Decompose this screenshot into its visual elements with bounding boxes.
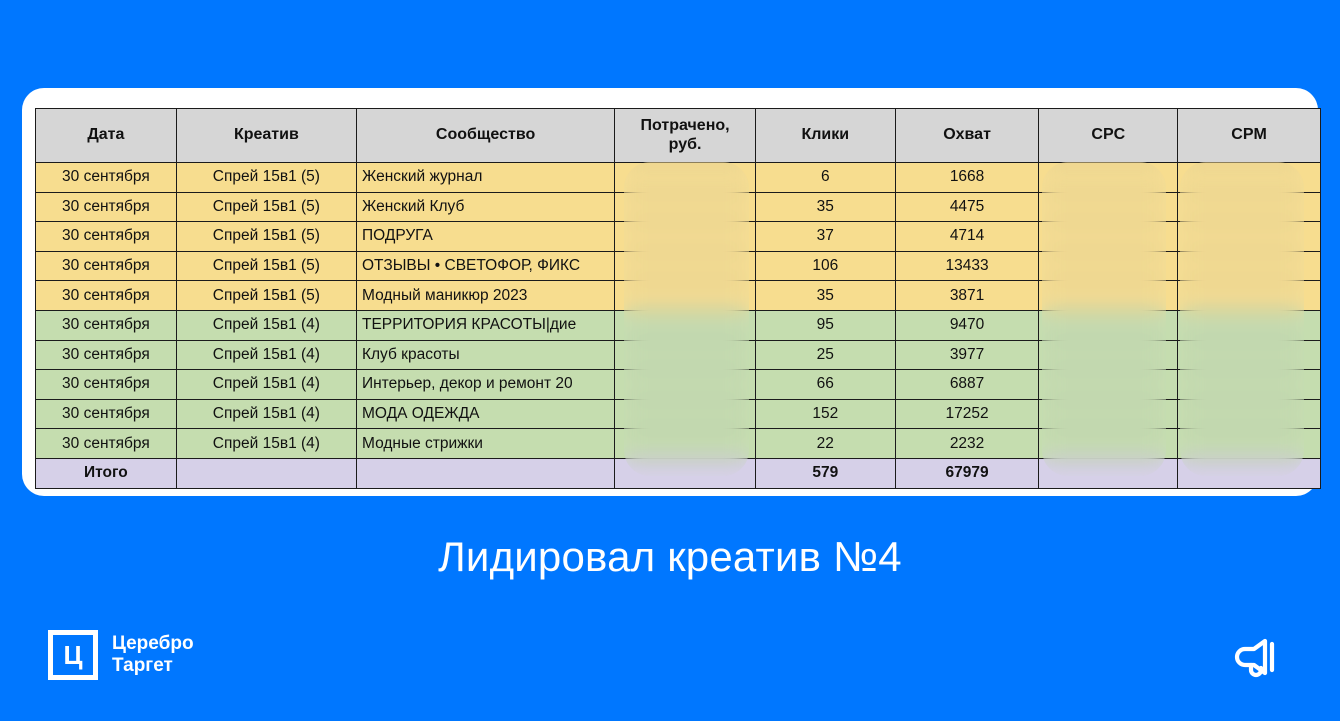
total-spent[interactable] <box>615 458 756 488</box>
cell-cpc[interactable] <box>1039 399 1178 429</box>
cell-date[interactable]: 30 сентября <box>36 281 177 311</box>
cell-cpc[interactable] <box>1039 310 1178 340</box>
header-row: Дата Креатив Сообщество Потрачено, руб. … <box>36 109 1321 163</box>
column-header-cpc[interactable]: CPC <box>1039 109 1178 163</box>
cell-clicks[interactable]: 35 <box>755 192 895 222</box>
cell-date[interactable]: 30 сентября <box>36 340 177 370</box>
cell-clicks[interactable]: 95 <box>755 310 895 340</box>
cell-community[interactable]: ПОДРУГА <box>356 222 614 252</box>
total-row[interactable]: Итого57967979 <box>36 458 1321 488</box>
cell-spent[interactable] <box>615 192 756 222</box>
cell-community[interactable]: Женский журнал <box>356 163 614 193</box>
table-header: Дата Креатив Сообщество Потрачено, руб. … <box>36 109 1321 163</box>
cell-text: ПОДРУГА <box>362 227 433 245</box>
logo-mark-icon: Ц <box>48 630 98 680</box>
cell-creative[interactable]: Спрей 15в1 (5) <box>176 222 356 252</box>
cell-cpc[interactable] <box>1039 251 1178 281</box>
cell-reach[interactable]: 4714 <box>895 222 1039 252</box>
cell-creative[interactable]: Спрей 15в1 (4) <box>176 340 356 370</box>
cell-reach[interactable]: 17252 <box>895 399 1039 429</box>
cell-text: Модный маникюр 2023 <box>362 287 527 305</box>
cell-spent[interactable] <box>615 251 756 281</box>
campaign-stats-table: Дата Креатив Сообщество Потрачено, руб. … <box>35 108 1321 489</box>
cell-cpm[interactable] <box>1178 399 1321 429</box>
cell-cpc[interactable] <box>1039 281 1178 311</box>
cell-creative[interactable]: Спрей 15в1 (5) <box>176 281 356 311</box>
cell-cpc[interactable] <box>1039 192 1178 222</box>
cell-spent[interactable] <box>615 370 756 400</box>
cell-clicks[interactable]: 25 <box>755 340 895 370</box>
table-row[interactable]: 30 сентябряСпрей 15в1 (4)Интерьер, декор… <box>36 370 1321 400</box>
column-header-reach[interactable]: Охват <box>895 109 1039 163</box>
column-header-spent-line1: Потрачено, <box>641 117 730 134</box>
cell-cpm[interactable] <box>1178 370 1321 400</box>
cell-cpm[interactable] <box>1178 163 1321 193</box>
cell-spent[interactable] <box>615 399 756 429</box>
cell-spent[interactable] <box>615 222 756 252</box>
cell-date[interactable]: 30 сентября <box>36 429 177 459</box>
page-caption: Лидировал креатив №4 <box>0 533 1340 581</box>
cell-community[interactable]: Интерьер, декор и ремонт 20 <box>356 370 614 400</box>
total-cpc[interactable] <box>1039 458 1178 488</box>
cell-reach[interactable]: 9470 <box>895 310 1039 340</box>
cell-community[interactable]: Модные стрижки <box>356 429 614 459</box>
cell-date[interactable]: 30 сентября <box>36 399 177 429</box>
table-row[interactable]: 30 сентябряСпрей 15в1 (4)МОДА ОДЕЖДА1521… <box>36 399 1321 429</box>
column-header-cpm[interactable]: CPM <box>1178 109 1321 163</box>
cell-date[interactable]: 30 сентября <box>36 163 177 193</box>
column-header-creative[interactable]: Креатив <box>176 109 356 163</box>
cell-cpm[interactable] <box>1178 281 1321 311</box>
cell-community[interactable]: ОТЗЫВЫ • СВЕТОФОР, ФИКС <box>356 251 614 281</box>
cell-creative[interactable]: Спрей 15в1 (4) <box>176 370 356 400</box>
cell-text: ТЕРРИТОРИЯ КРАСОТЫ|дие <box>362 316 576 334</box>
cell-cpc[interactable] <box>1039 429 1178 459</box>
logo-wordmark-line2: Таргет <box>112 655 194 677</box>
cell-community[interactable]: ТЕРРИТОРИЯ КРАСОТЫ|дие <box>356 310 614 340</box>
table-row[interactable]: 30 сентябряСпрей 15в1 (5)Модный маникюр … <box>36 281 1321 311</box>
total-cpm[interactable] <box>1178 458 1321 488</box>
cell-text: Женский Клуб <box>362 198 464 216</box>
cell-cpm[interactable] <box>1178 310 1321 340</box>
cell-cpm[interactable] <box>1178 340 1321 370</box>
cell-text: Клуб красоты <box>362 346 460 364</box>
cell-cpm[interactable] <box>1178 251 1321 281</box>
cell-date[interactable]: 30 сентября <box>36 222 177 252</box>
cell-text: ОТЗЫВЫ • СВЕТОФОР, ФИКС <box>362 257 580 275</box>
logo-wordmark-line1: Церебро <box>112 633 194 655</box>
total-creative[interactable] <box>176 458 356 488</box>
cell-clicks[interactable]: 152 <box>755 399 895 429</box>
cell-spent[interactable] <box>615 281 756 311</box>
cell-reach[interactable]: 6887 <box>895 370 1039 400</box>
cell-community[interactable]: Модный маникюр 2023 <box>356 281 614 311</box>
brand-logo: Ц Церебро Таргет <box>48 630 194 680</box>
cell-spent[interactable] <box>615 340 756 370</box>
cell-cpc[interactable] <box>1039 370 1178 400</box>
cell-cpm[interactable] <box>1178 222 1321 252</box>
column-header-clicks[interactable]: Клики <box>755 109 895 163</box>
cell-cpc[interactable] <box>1039 222 1178 252</box>
table-row[interactable]: 30 сентябряСпрей 15в1 (4)ТЕРРИТОРИЯ КРАС… <box>36 310 1321 340</box>
column-header-community[interactable]: Сообщество <box>356 109 614 163</box>
total-label[interactable]: Итого <box>36 458 177 488</box>
total-community[interactable] <box>356 458 614 488</box>
cell-date[interactable]: 30 сентября <box>36 251 177 281</box>
cell-text: Модные стрижки <box>362 435 483 453</box>
cell-spent[interactable] <box>615 310 756 340</box>
cell-creative[interactable]: Спрей 15в1 (4) <box>176 429 356 459</box>
table-row[interactable]: 30 сентябряСпрей 15в1 (5)ПОДРУГА374714 <box>36 222 1321 252</box>
cell-creative[interactable]: Спрей 15в1 (4) <box>176 399 356 429</box>
cell-creative[interactable]: Спрей 15в1 (5) <box>176 251 356 281</box>
cell-reach[interactable]: 2232 <box>895 429 1039 459</box>
total-reach[interactable]: 67979 <box>895 458 1039 488</box>
table-row[interactable]: 30 сентябряСпрей 15в1 (4)Клуб красоты253… <box>36 340 1321 370</box>
table-row[interactable]: 30 сентябряСпрей 15в1 (4)Модные стрижки2… <box>36 429 1321 459</box>
cell-date[interactable]: 30 сентября <box>36 310 177 340</box>
megaphone-icon <box>1234 636 1288 678</box>
table-row[interactable]: 30 сентябряСпрей 15в1 (5)ОТЗЫВЫ • СВЕТОФ… <box>36 251 1321 281</box>
cell-text: МОДА ОДЕЖДА <box>362 405 479 423</box>
cell-date[interactable]: 30 сентября <box>36 370 177 400</box>
cell-clicks[interactable]: 6 <box>755 163 895 193</box>
spreadsheet-card: Дата Креатив Сообщество Потрачено, руб. … <box>22 88 1318 496</box>
cell-cpm[interactable] <box>1178 192 1321 222</box>
cell-clicks[interactable]: 37 <box>755 222 895 252</box>
cell-clicks[interactable]: 106 <box>755 251 895 281</box>
cell-text: Женский журнал <box>362 168 482 186</box>
cell-creative[interactable]: Спрей 15в1 (5) <box>176 163 356 193</box>
cell-spent[interactable] <box>615 429 756 459</box>
cell-creative[interactable]: Спрей 15в1 (5) <box>176 192 356 222</box>
cell-community[interactable]: Женский Клуб <box>356 192 614 222</box>
cell-reach[interactable]: 4475 <box>895 192 1039 222</box>
cell-creative[interactable]: Спрей 15в1 (4) <box>176 310 356 340</box>
cell-community[interactable]: Клуб красоты <box>356 340 614 370</box>
cell-text: Интерьер, декор и ремонт 20 <box>362 375 573 393</box>
table-row[interactable]: 30 сентябряСпрей 15в1 (5)Женский журнал6… <box>36 163 1321 193</box>
cell-spent[interactable] <box>615 163 756 193</box>
cell-community[interactable]: МОДА ОДЕЖДА <box>356 399 614 429</box>
column-header-spent-line2: руб. <box>669 136 702 153</box>
column-header-spent[interactable]: Потрачено, руб. <box>615 109 756 163</box>
cell-cpc[interactable] <box>1039 163 1178 193</box>
cell-cpc[interactable] <box>1039 340 1178 370</box>
cell-date[interactable]: 30 сентября <box>36 192 177 222</box>
table-row[interactable]: 30 сентябряСпрей 15в1 (5)Женский Клуб354… <box>36 192 1321 222</box>
logo-wordmark: Церебро Таргет <box>112 633 194 678</box>
cell-reach[interactable]: 13433 <box>895 251 1039 281</box>
cell-reach[interactable]: 3977 <box>895 340 1039 370</box>
cell-clicks[interactable]: 35 <box>755 281 895 311</box>
cell-cpm[interactable] <box>1178 429 1321 459</box>
cell-reach[interactable]: 1668 <box>895 163 1039 193</box>
cell-clicks[interactable]: 22 <box>755 429 895 459</box>
total-clicks[interactable]: 579 <box>755 458 895 488</box>
table-body: 30 сентябряСпрей 15в1 (5)Женский журнал6… <box>36 163 1321 489</box>
cell-clicks[interactable]: 66 <box>755 370 895 400</box>
cell-reach[interactable]: 3871 <box>895 281 1039 311</box>
column-header-date[interactable]: Дата <box>36 109 177 163</box>
